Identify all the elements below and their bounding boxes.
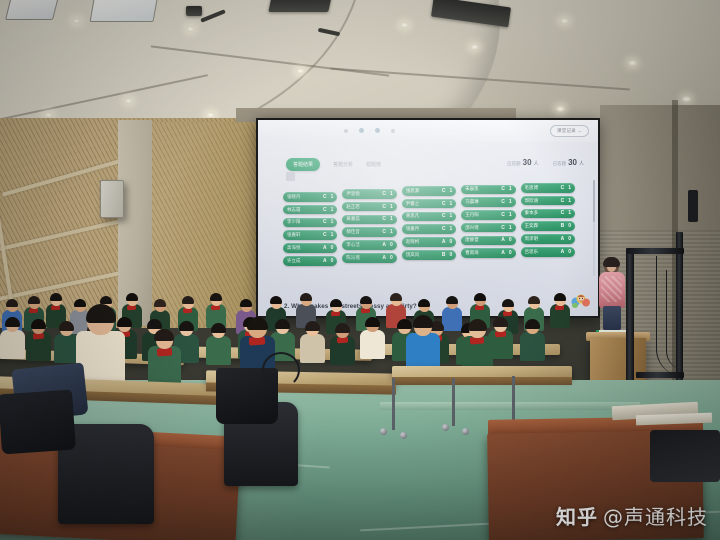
student xyxy=(550,294,570,325)
student-answer: A xyxy=(442,239,450,245)
answer-column: 张思源C1尹睿之C1黄思凡C1钱嘉月C1赵晓柯A0饶岚风B0 xyxy=(402,186,456,260)
teacher-hair xyxy=(603,257,620,267)
student-torso xyxy=(360,330,385,359)
student-name: 尹思悦 xyxy=(346,191,359,197)
student-answer-pill[interactable]: 朱辰凯C1 xyxy=(461,185,515,195)
student-answer-pill[interactable]: 王丹阳C1 xyxy=(461,210,515,220)
student-name: 曹雨琦 xyxy=(465,250,478,256)
student-hair xyxy=(413,315,434,328)
student-answer-pill[interactable]: 高海悦A0 xyxy=(283,243,337,253)
student-hair xyxy=(502,299,514,307)
student-hair xyxy=(446,296,458,304)
student-answer-pill[interactable]: 赵芷若C1 xyxy=(342,202,396,212)
ceiling-mounted-device xyxy=(688,190,698,222)
student-answer-pill[interactable]: 郭欣涵C1 xyxy=(521,196,575,206)
student-score: 1 xyxy=(509,186,512,192)
student-name: 秦本多 xyxy=(525,210,538,216)
student-answer-pill[interactable]: 张嘉轩C1 xyxy=(283,230,337,240)
student-hair xyxy=(468,319,487,331)
student-answer: A xyxy=(501,250,509,256)
student xyxy=(206,324,231,362)
student-answer: C xyxy=(442,213,450,219)
student-hair xyxy=(474,293,486,301)
tab-wrong-answers[interactable]: 错题榜 xyxy=(366,161,381,168)
student-answer-pill[interactable]: 吕思乐A0 xyxy=(521,247,575,257)
student-name: 张嘉轩 xyxy=(287,232,300,238)
counter-answered-label: 已答题 xyxy=(553,161,567,167)
student-hair xyxy=(418,299,430,307)
student-answer: C xyxy=(442,226,450,232)
student-hair xyxy=(270,296,282,304)
student-score: 1 xyxy=(509,199,512,205)
student-answer-pill[interactable]: 秦本多C1 xyxy=(521,209,575,219)
student-name: 李少阳 xyxy=(287,219,300,225)
student-hair xyxy=(147,319,162,329)
student-name: 钱嘉月 xyxy=(406,226,419,232)
skylight-panel xyxy=(90,0,159,22)
ceiling-downlight xyxy=(560,18,569,24)
student-answer-pill[interactable]: 郝佳音C1 xyxy=(342,227,396,237)
student-score: 1 xyxy=(449,188,452,194)
student xyxy=(330,324,355,362)
student-hair xyxy=(28,296,40,304)
student-torso xyxy=(206,336,231,365)
watermark: 知乎@声通科技 xyxy=(556,501,708,530)
student xyxy=(300,322,325,360)
bag-strap xyxy=(262,352,300,388)
student xyxy=(406,316,440,368)
student-name: 高海悦 xyxy=(287,245,300,251)
counter-answered: 已答题 30 人 xyxy=(553,158,584,167)
student-hair xyxy=(126,293,138,301)
student xyxy=(462,320,493,368)
student-answer: C xyxy=(501,186,509,192)
student-score: 1 xyxy=(331,219,334,225)
student-hair xyxy=(335,323,350,333)
floor-step xyxy=(380,402,640,410)
student-answer: C xyxy=(382,204,390,210)
student-answer: B xyxy=(442,252,450,258)
chair-caster xyxy=(400,432,407,439)
chair-post xyxy=(512,376,515,422)
student-answer-pill[interactable]: 陈沁瑶A0 xyxy=(342,253,396,263)
counter-expected-label: 应答题 xyxy=(507,161,521,167)
equipment-crossbar xyxy=(626,248,684,254)
student-hair xyxy=(154,299,166,307)
student-answer: A xyxy=(561,249,569,255)
student-score: 0 xyxy=(390,255,393,261)
ceiling-downlight xyxy=(470,44,479,50)
student-hair xyxy=(360,296,372,304)
student-hair xyxy=(59,321,74,331)
student-answer-pill[interactable]: 周泽明A0 xyxy=(521,234,575,244)
student-name: 尹睿之 xyxy=(406,201,419,207)
student-hair xyxy=(6,299,18,307)
student-hair xyxy=(554,293,566,301)
student-score: 1 xyxy=(390,229,393,235)
wall-speaker xyxy=(100,180,124,218)
student-answer-pill[interactable]: 赵晓柯A0 xyxy=(402,237,456,247)
student-name: 王奕霖 xyxy=(525,223,538,229)
student-score: 1 xyxy=(568,198,571,204)
student-answer-pill[interactable]: 曹雨琦A0 xyxy=(461,248,515,258)
student-answer: C xyxy=(382,229,390,235)
student-hair xyxy=(365,317,380,327)
ceiling-downlight xyxy=(400,22,409,28)
student-hair xyxy=(182,296,194,304)
student-hair xyxy=(100,296,112,304)
student-hair xyxy=(86,304,116,323)
ceiling-vent xyxy=(268,0,331,12)
student-name: 周泽明 xyxy=(525,236,538,242)
student-answer: C xyxy=(382,216,390,222)
student-answer: A xyxy=(323,245,331,251)
student-hair xyxy=(275,319,290,329)
student-score: 0 xyxy=(331,258,334,264)
student-hair xyxy=(31,319,46,329)
student-answer-pill[interactable]: 黄嘉蕊C1 xyxy=(342,215,396,225)
student-answer: C xyxy=(323,219,331,225)
counter-expected-unit: 人 xyxy=(534,160,539,167)
student xyxy=(54,322,79,360)
student xyxy=(520,320,545,358)
student-name: 黄思凡 xyxy=(406,213,419,219)
student-hair xyxy=(240,299,252,307)
answer-column: 尹思悦C1赵芷若C1黄嘉蕊C1郝佳音C1李心洁A0陈沁瑶A0 xyxy=(342,189,396,263)
student-hair xyxy=(5,317,20,327)
grid-view-toggle[interactable] xyxy=(286,172,295,181)
answer-column: 张晓丹C1林志霞C1李少阳C1张嘉轩C1高海悦A0许立成A0 xyxy=(283,192,337,266)
student-answer-pill[interactable]: 马晨琳C1 xyxy=(461,197,515,207)
student-score: 1 xyxy=(331,207,334,213)
student-answer: A xyxy=(501,237,509,243)
student-score: 0 xyxy=(509,250,512,256)
ceiling-downlight xyxy=(186,26,195,32)
projection-screen: 课堂记录 → 答题结果 答题分析 错题榜 应答题 30 人 已答题 30 人 张… xyxy=(258,120,598,316)
student-score: 0 xyxy=(449,239,452,245)
student-name: 张思源 xyxy=(406,188,419,194)
student-answer-pill[interactable]: 林志霞C1 xyxy=(283,205,337,215)
student-name: 李心洁 xyxy=(346,242,359,248)
student-torso xyxy=(520,332,545,361)
student-score: 0 xyxy=(331,245,334,251)
student-torso xyxy=(300,334,325,363)
student-score: 1 xyxy=(509,225,512,231)
watermark-handle: @声通科技 xyxy=(603,505,708,529)
student-torso xyxy=(0,330,25,359)
student-hair xyxy=(528,296,540,304)
answer-column: 朱辰凯C1马晨琳C1王丹阳C1邵兴瑶C1唐静萱A0曹雨琦A0 xyxy=(461,185,515,259)
student-answer-pill[interactable]: 唐静萱A0 xyxy=(461,236,515,246)
student-score: 0 xyxy=(568,236,571,242)
student-answer: C xyxy=(323,194,331,200)
student-score: 1 xyxy=(331,194,334,200)
student-answer-pill[interactable]: 李少阳C1 xyxy=(283,218,337,228)
cable xyxy=(666,270,685,370)
student-name: 陈沁瑶 xyxy=(346,255,359,261)
teacher-legs xyxy=(603,306,621,330)
student-hair xyxy=(300,293,312,301)
ceiling-vent-small xyxy=(186,6,202,16)
student-answer-pill[interactable]: 李心洁A0 xyxy=(342,240,396,250)
student-hair xyxy=(525,319,540,329)
student-answer: A xyxy=(382,255,390,261)
student-hair xyxy=(390,293,402,301)
student-answer: C xyxy=(561,210,569,216)
student-name: 赵晓柯 xyxy=(406,239,419,245)
student-answer: C xyxy=(323,207,331,213)
student-answer: A xyxy=(323,258,331,264)
counter-expected: 应答题 30 人 xyxy=(507,158,538,167)
student-answer: C xyxy=(501,225,509,231)
student-answer-pill[interactable]: 饶岚风B0 xyxy=(402,250,456,260)
tab-answer-results[interactable]: 答题结果 xyxy=(286,158,320,171)
handbag xyxy=(0,389,76,454)
ceiling-downlight xyxy=(628,60,637,66)
student-answer-pill[interactable]: 钱嘉月C1 xyxy=(402,224,456,234)
teacher-shirt-pattern xyxy=(601,276,622,302)
student-name: 朱辰凯 xyxy=(465,186,478,192)
student-name: 吕思乐 xyxy=(525,249,538,255)
student-hair xyxy=(247,317,269,331)
student-answer: A xyxy=(561,236,569,242)
student-answer: B xyxy=(561,223,569,229)
student-score: 0 xyxy=(509,237,512,243)
student-hair xyxy=(330,299,342,307)
counter-expected-value: 30 xyxy=(523,158,532,167)
student-name: 马晨琳 xyxy=(465,199,478,205)
right-acoustic-wall-panel xyxy=(150,122,256,326)
results-scrollbar[interactable] xyxy=(593,180,595,276)
student-hair xyxy=(211,323,226,333)
student-answer-pill[interactable]: 张晓丹C1 xyxy=(283,192,337,202)
classroom-scene: 课堂记录 → 答题结果 答题分析 错题榜 应答题 30 人 已答题 30 人 张… xyxy=(0,0,720,540)
student-answer-pill[interactable]: 邵兴瑶C1 xyxy=(461,223,515,233)
student-name: 郝佳音 xyxy=(346,229,359,235)
student-score: 1 xyxy=(449,213,452,219)
student-name: 饶岚风 xyxy=(406,252,419,258)
student-answer-pill[interactable]: 许立成A0 xyxy=(283,256,337,266)
student-answer-pill[interactable]: 黄思凡C1 xyxy=(402,212,456,222)
student-hair xyxy=(179,321,194,331)
result-tabs[interactable]: 答题结果 答题分析 错题榜 xyxy=(286,158,381,171)
student-hair xyxy=(50,293,62,301)
counter-answered-value: 30 xyxy=(568,158,577,167)
student-score: 1 xyxy=(331,232,334,238)
equipment-case xyxy=(650,430,720,482)
student-answer: C xyxy=(501,199,509,205)
student-name: 唐静萱 xyxy=(465,237,478,243)
ceiling-downlight xyxy=(72,18,81,24)
student xyxy=(206,294,226,325)
student-score: 1 xyxy=(449,226,452,232)
ceiling-downlight xyxy=(556,106,565,112)
student-answer-pill[interactable]: 毛思博C1 xyxy=(521,183,575,193)
tab-answer-analysis[interactable]: 答题分析 xyxy=(333,161,353,168)
student xyxy=(360,318,385,356)
skylight-panel xyxy=(5,0,59,20)
student-score: 1 xyxy=(449,201,452,207)
student-score: 1 xyxy=(568,185,571,191)
student-answer-pill[interactable]: 尹睿之C1 xyxy=(402,199,456,209)
app-pagination-dots xyxy=(344,128,395,133)
student xyxy=(26,320,51,358)
student-hair xyxy=(493,317,508,327)
student-score: 1 xyxy=(568,210,571,216)
student-answer: A xyxy=(382,242,390,248)
chair-post xyxy=(452,378,455,426)
student-score: 0 xyxy=(568,249,571,255)
desk-front-panel xyxy=(392,377,572,385)
student-name: 林志霞 xyxy=(287,207,300,213)
student-score: 1 xyxy=(390,191,393,197)
chair-caster xyxy=(462,428,469,435)
student-answer: C xyxy=(442,201,450,207)
ceiling-downlight xyxy=(682,96,691,102)
student-answer-pill[interactable]: 张思源C1 xyxy=(402,186,456,196)
student xyxy=(148,330,181,380)
student-answer: C xyxy=(442,188,450,194)
student-hair xyxy=(305,321,320,331)
student-answer-grid: 张晓丹C1林志霞C1李少阳C1张嘉轩C1高海悦A0许立成A0尹思悦C1赵芷若C1… xyxy=(283,183,575,283)
student-answer-pill[interactable]: 王奕霖B0 xyxy=(521,221,575,231)
cartoon-sticker xyxy=(571,292,591,310)
student-score: 0 xyxy=(568,223,571,229)
app-top-bar: 课堂记录 → xyxy=(258,120,598,142)
student-answer: C xyxy=(323,232,331,238)
chair-caster xyxy=(442,424,449,431)
student-hair xyxy=(210,293,222,301)
chair-post xyxy=(392,378,395,430)
student-torso xyxy=(54,334,79,363)
student-answer: C xyxy=(501,212,509,218)
student-score: 1 xyxy=(390,216,393,222)
answer-column: 毛思博C1郭欣涵C1秦本多C1王奕霖B0周泽明A0吕思乐A0 xyxy=(521,183,575,257)
watermark-logo: 知乎 xyxy=(556,505,598,529)
student-name: 张晓丹 xyxy=(287,194,300,200)
student-name: 邵兴瑶 xyxy=(465,225,478,231)
student-score: 0 xyxy=(390,242,393,248)
chair-caster xyxy=(380,428,387,435)
student-score: 1 xyxy=(509,212,512,218)
teacher xyxy=(597,258,627,328)
answer-counters: 应答题 30 人 已答题 30 人 xyxy=(507,158,584,167)
student-name: 郭欣涵 xyxy=(525,198,538,204)
class-record-button[interactable]: 课堂记录 → xyxy=(550,125,589,137)
ceiling-downlight xyxy=(296,68,305,74)
student-name: 王丹阳 xyxy=(465,212,478,218)
student-answer-pill[interactable]: 尹思悦C1 xyxy=(342,189,396,199)
student-name: 黄嘉蕊 xyxy=(346,216,359,222)
student-answer: C xyxy=(382,191,390,197)
student-hair xyxy=(154,329,174,342)
student-answer: C xyxy=(561,198,569,204)
ceiling-downlight xyxy=(124,98,133,104)
student-name: 赵芷若 xyxy=(346,204,359,210)
counter-answered-unit: 人 xyxy=(579,160,584,167)
student-score: 0 xyxy=(449,252,452,258)
student-name: 毛思博 xyxy=(525,185,538,191)
student-score: 1 xyxy=(390,204,393,210)
student xyxy=(0,318,25,356)
student-name: 许立成 xyxy=(287,258,300,264)
student-answer: C xyxy=(561,185,569,191)
